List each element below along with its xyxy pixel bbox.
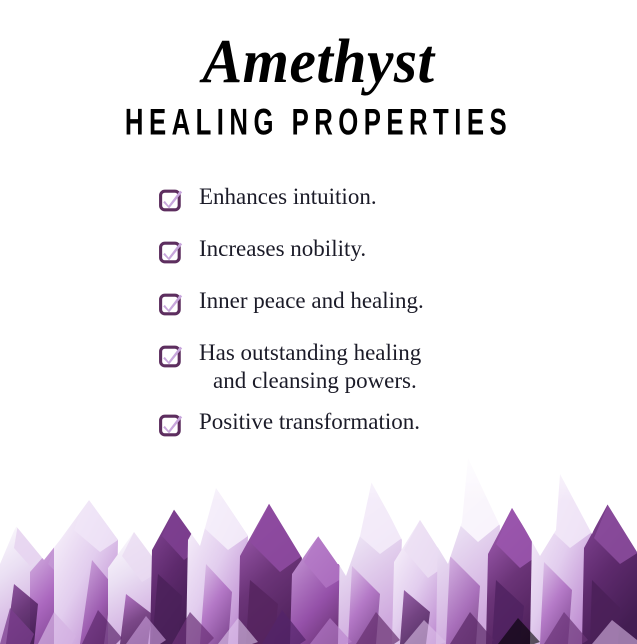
checked-checkbox-icon — [158, 343, 184, 369]
amethyst-crystal-cluster-image — [0, 444, 637, 644]
list-item: Enhances intuition. — [155, 183, 555, 213]
list-item-label: Increases nobility. — [199, 235, 555, 263]
list-item-label: Has outstanding healing — [199, 339, 555, 367]
page-subtitle: HEALING PROPERTIES — [70, 103, 567, 140]
list-item-label: Inner peace and healing. — [199, 287, 555, 315]
checked-checkbox-icon — [158, 239, 184, 265]
list-item: Inner peace and healing. — [155, 287, 555, 317]
list-item: Has outstanding healing and cleansing po… — [155, 339, 555, 395]
poster-canvas: Amethyst HEALING PROPERTIES Enhances int… — [0, 0, 637, 644]
checked-checkbox-icon — [158, 291, 184, 317]
checked-checkbox-icon — [158, 412, 184, 438]
healing-properties-list: Enhances intuition. Increases nobility. … — [155, 183, 555, 460]
list-item-label: Positive transformation. — [199, 408, 555, 436]
checked-checkbox-icon — [158, 187, 184, 213]
list-item-label-line-2: and cleansing powers. — [199, 367, 555, 395]
list-item-label: Enhances intuition. — [199, 183, 555, 211]
poster-header: Amethyst HEALING PROPERTIES — [0, 0, 637, 136]
list-item: Positive transformation. — [155, 408, 555, 438]
page-title: Amethyst — [13, 30, 625, 95]
list-item: Increases nobility. — [155, 235, 555, 265]
